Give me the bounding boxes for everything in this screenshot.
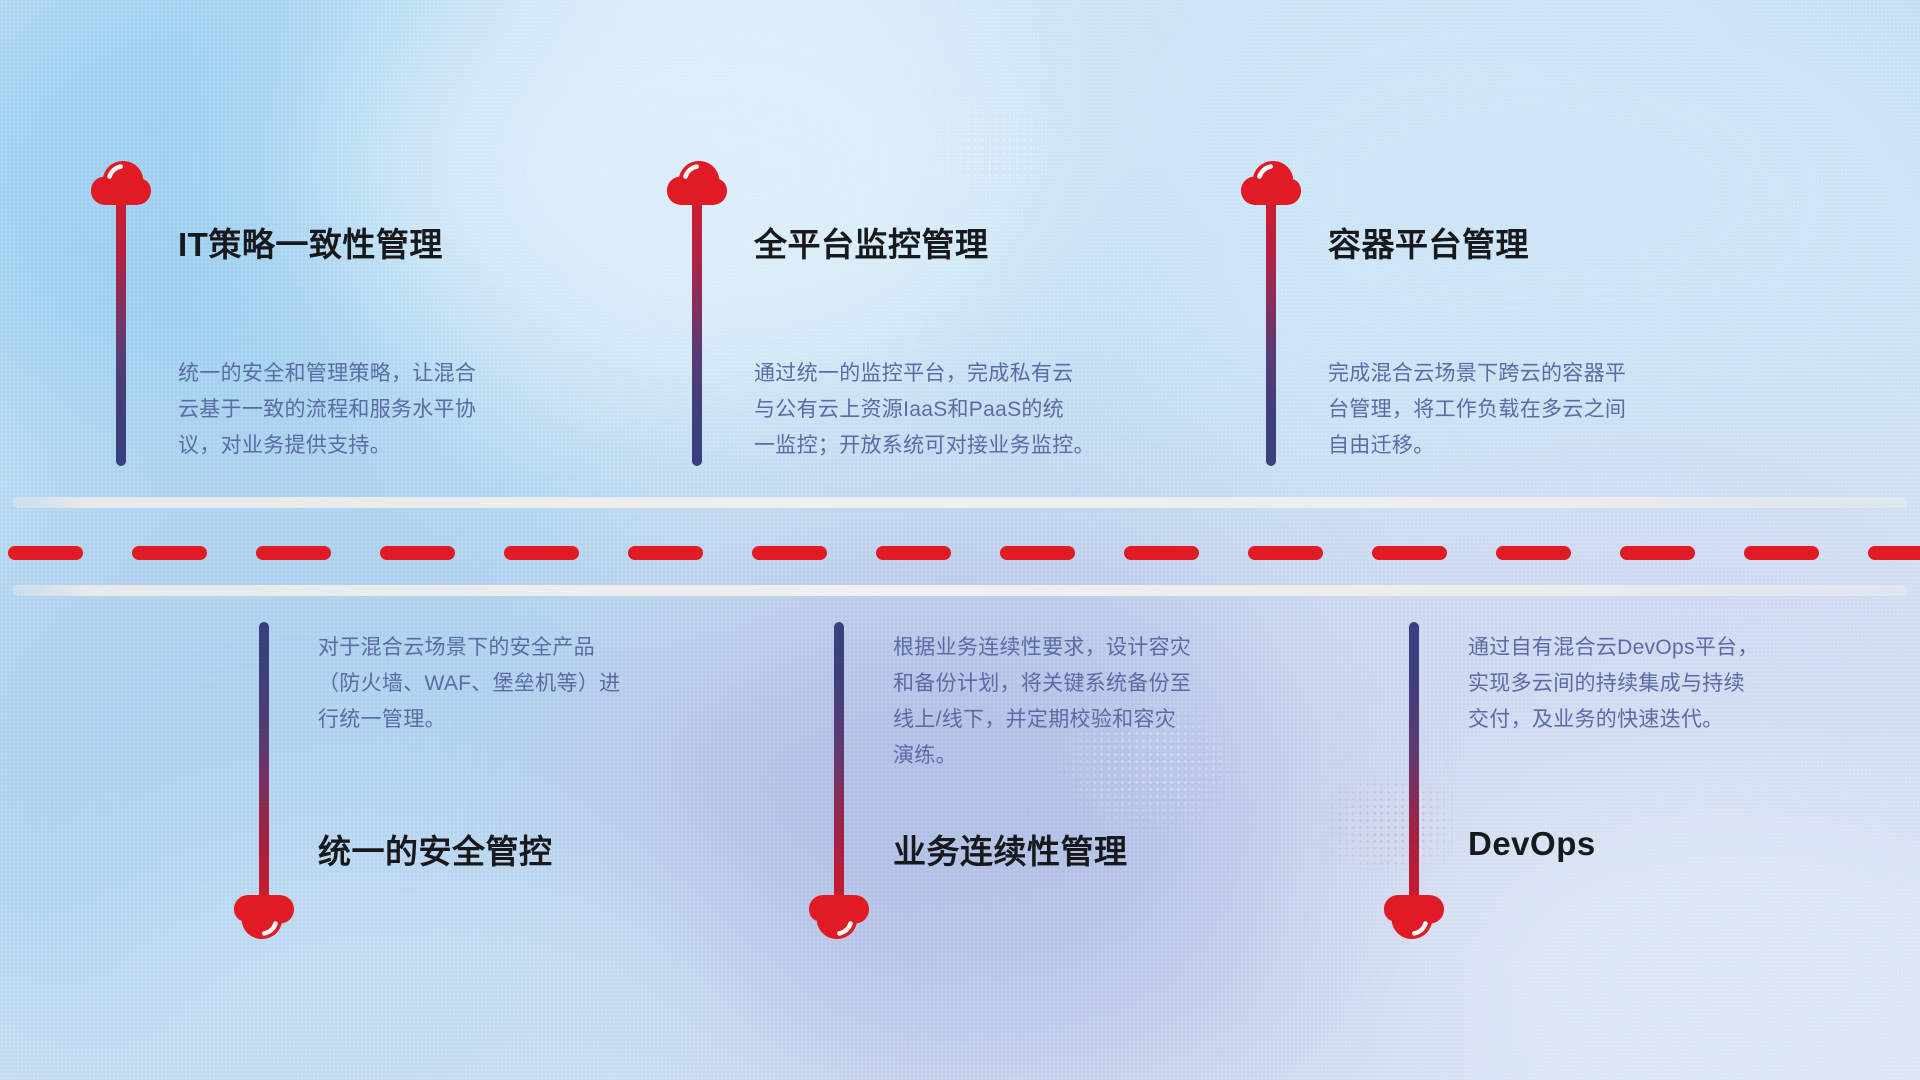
item-description: 统一的安全和管理策略，让混合 云基于一致的流程和服务水平协 议，对业务提供支持。 (178, 356, 476, 464)
desc-line: 对于混合云场景下的安全产品 (318, 630, 620, 666)
cloud-icon (233, 894, 295, 940)
road-dash (628, 546, 703, 560)
road-dash (752, 546, 827, 560)
item-title: DevOps (1468, 825, 1596, 863)
road-dash (8, 546, 83, 560)
item-title: IT策略一致性管理 (178, 218, 443, 266)
desc-line: 线上/线下，并定期校验和容灾 (893, 702, 1191, 738)
desc-line: 台管理，将工作负载在多云之间 (1328, 392, 1626, 428)
item-title: 全平台监控管理 (754, 218, 989, 266)
road-dash (876, 546, 951, 560)
road-dash (1620, 546, 1695, 560)
road-rail-bottom (12, 585, 1908, 596)
item-description: 完成混合云场景下跨云的容器平 台管理，将工作负载在多云之间 自由迁移。 (1328, 356, 1626, 464)
desc-line: 通过自有混合云DevOps平台， (1468, 630, 1759, 666)
road-dash (256, 546, 331, 560)
cloud-icon (666, 160, 728, 206)
desc-line: 议，对业务提供支持。 (178, 428, 476, 464)
cloud-icon (1240, 160, 1302, 206)
road-dash (380, 546, 455, 560)
road-dash (1124, 546, 1199, 560)
desc-line: 根据业务连续性要求，设计容灾 (893, 630, 1191, 666)
item-description: 通过统一的监控平台，完成私有云 与公有云上资源IaaS和PaaS的统 一监控；开… (754, 356, 1095, 464)
desc-line: 与公有云上资源IaaS和PaaS的统 (754, 392, 1095, 428)
desc-line: 交付，及业务的快速迭代。 (1468, 702, 1759, 738)
cloud-icon (808, 894, 870, 940)
item-title: 业务连续性管理 (893, 825, 1128, 873)
desc-line: 完成混合云场景下跨云的容器平 (1328, 356, 1626, 392)
pin-stem (259, 622, 269, 920)
desc-line: 演练。 (893, 738, 1191, 774)
item-description: 通过自有混合云DevOps平台， 实现多云间的持续集成与持续 交付，及业务的快速… (1468, 630, 1759, 738)
desc-line: 统一的安全和管理策略，让混合 (178, 356, 476, 392)
item-description: 根据业务连续性要求，设计容灾 和备份计划，将关键系统备份至 线上/线下，并定期校… (893, 630, 1191, 774)
infographic-canvas: IT策略一致性管理 统一的安全和管理策略，让混合 云基于一致的流程和服务水平协 … (0, 0, 1920, 1080)
item-description: 对于混合云场景下的安全产品 （防火墙、WAF、堡垒机等）进 行统一管理。 (318, 630, 620, 738)
desc-line: 通过统一的监控平台，完成私有云 (754, 356, 1095, 392)
desc-line: 实现多云间的持续集成与持续 (1468, 666, 1759, 702)
desc-line: （防火墙、WAF、堡垒机等）进 (318, 666, 620, 702)
cloud-icon (1383, 894, 1445, 940)
desc-line: 云基于一致的流程和服务水平协 (178, 392, 476, 428)
road-dash-centerline (0, 546, 1920, 560)
desc-line: 行统一管理。 (318, 702, 620, 738)
road-rail-top (12, 497, 1908, 508)
desc-line: 一监控；开放系统可对接业务监控。 (754, 428, 1095, 464)
pin-stem (692, 168, 702, 466)
cloud-icon (90, 160, 152, 206)
desc-line: 自由迁移。 (1328, 428, 1626, 464)
road-dash (1000, 546, 1075, 560)
item-title: 统一的安全管控 (318, 825, 553, 873)
road-dash (504, 546, 579, 560)
road-dash (1744, 546, 1819, 560)
pin-stem (1409, 622, 1419, 920)
road-dash (1868, 546, 1920, 560)
road-dash (1372, 546, 1447, 560)
pin-stem (1266, 168, 1276, 466)
road-dash (132, 546, 207, 560)
pin-stem (834, 622, 844, 920)
pin-stem (116, 168, 126, 466)
road-dash (1496, 546, 1571, 560)
desc-line: 和备份计划，将关键系统备份至 (893, 666, 1191, 702)
item-title: 容器平台管理 (1328, 218, 1529, 266)
road-dash (1248, 546, 1323, 560)
